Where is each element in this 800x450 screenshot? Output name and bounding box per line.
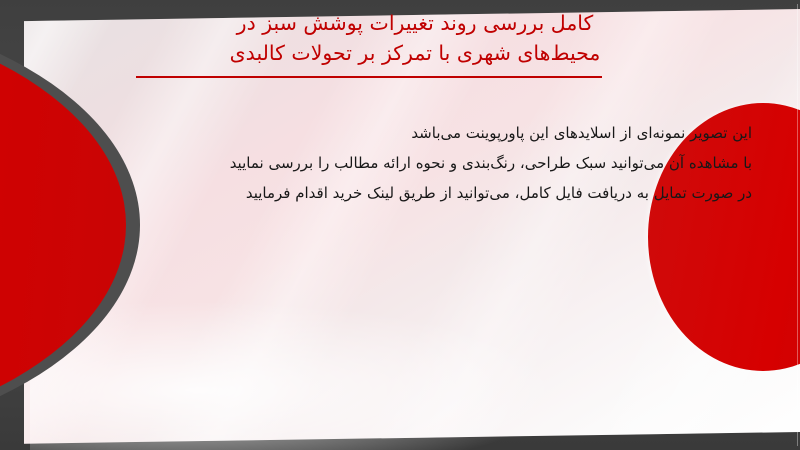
body-line-2: با مشاهده آن می‌توانید سبک طراحی، رنگ‌بن… xyxy=(52,148,752,178)
slide-body: این تصویر نمونه‌ای از اسلایدهای این پاور… xyxy=(52,118,752,208)
body-line-1: این تصویر نمونه‌ای از اسلایدهای این پاور… xyxy=(52,118,752,148)
inner-edge-highlight xyxy=(797,4,798,446)
title-underline-rule xyxy=(136,76,602,78)
slide-title: کامل بررسی روند تغییرات پوشش سبز در محیط… xyxy=(70,8,760,68)
title-line-2: محیط‌های شهری با تمرکز بر تحولات کالبدی xyxy=(70,38,760,68)
body-line-3: در صورت تمایل به دریافت فایل کامل، می‌تو… xyxy=(52,178,752,208)
presentation-slide: کامل بررسی روند تغییرات پوشش سبز در محیط… xyxy=(0,0,800,450)
title-line-1: کامل بررسی روند تغییرات پوشش سبز در xyxy=(70,8,760,38)
